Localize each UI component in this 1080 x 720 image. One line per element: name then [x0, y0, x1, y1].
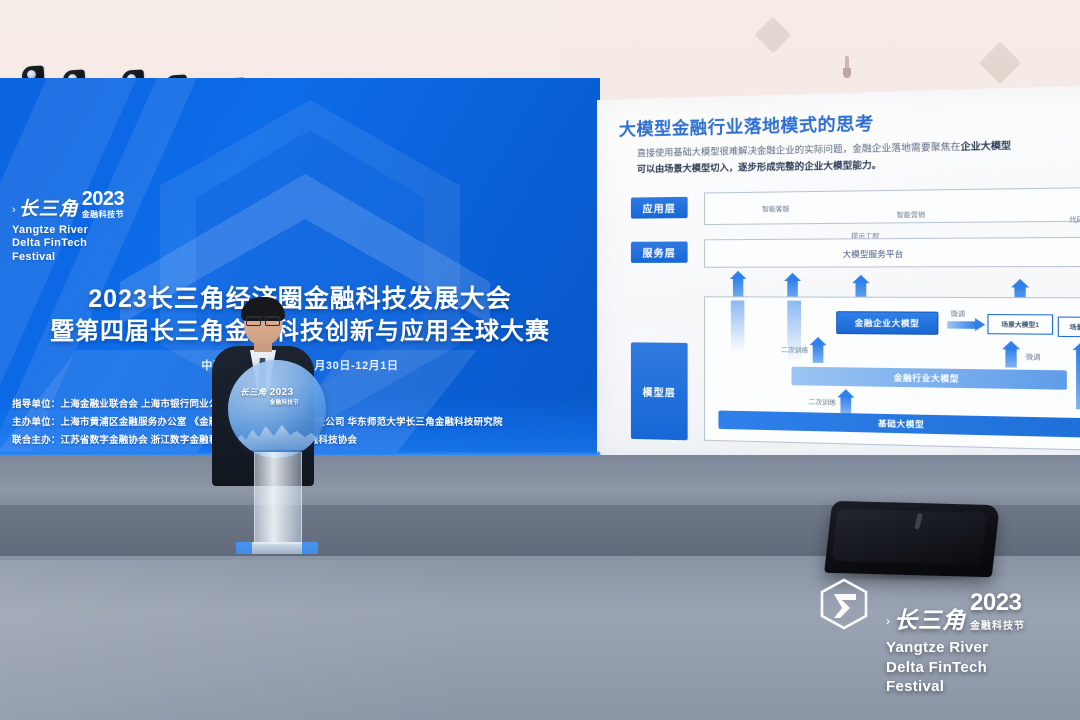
arrow-up-icon: [1076, 349, 1080, 410]
backdrop-brand-logo: › 长三角 2023 金融科技节 Yangtze River Delta Fin…: [12, 190, 162, 264]
slide-body-bold-tail: 企业大模型: [961, 140, 1011, 152]
monitor-grille: [831, 509, 987, 565]
scene-model-box: 场景大模型2: [1058, 317, 1080, 338]
watermark-en-line2: Delta FinTech: [886, 658, 1025, 678]
arrow-label: 微调: [951, 307, 965, 318]
podium-logo-cn: 长三角: [240, 386, 267, 398]
app-item-label: 智能客服: [762, 203, 789, 214]
slide-body-line2: 可以由场景大模型切入，逐步形成完整的企业大模型能力。: [637, 160, 882, 175]
presentation-screen: 大模型金融行业落地模式的思考 直接使用基础大模型很难解决金融企业的实际问题，金融…: [597, 85, 1080, 475]
podium-stem: [254, 452, 302, 544]
conference-photo: › 长三角 2023 金融科技节 Yangtze River Delta Fin…: [0, 0, 1080, 720]
watermark-arrow-icon: ›: [886, 614, 890, 628]
watermark-sub: 金融科技节: [970, 617, 1025, 632]
slide-diagram: 应用层 智能客服 智能营销 代码助手 提示工程 服务层 大模型服务平台 模型层 …: [631, 185, 1080, 456]
slide-body-text: 直接使用基础大模型很难解决金融企业的实际问题，金融企业落地需要聚焦在企业大模型 …: [637, 135, 1080, 178]
watermark-en-line3: Festival: [886, 677, 1025, 697]
layer-tag-service: 服务层: [631, 241, 688, 262]
watermark-cn: 长三角: [894, 609, 966, 632]
podium-base-accent: [302, 542, 318, 554]
watermark-logo: › 长三角 2023 金融科技节 Yangtze River Delta Fin…: [818, 578, 1068, 698]
scene-model-box: 场景大模型1: [987, 314, 1053, 335]
logo-arrow-icon: ›: [12, 205, 16, 216]
festival-mark-icon: [818, 578, 870, 630]
app-item-label: 智能营销: [897, 208, 925, 219]
arrow-up-icon: [840, 396, 851, 413]
logo-en-line2: Delta FinTech: [12, 237, 162, 250]
watermark-en-line1: Yangtze River: [886, 638, 1025, 658]
slide-title: 大模型金融行业落地模式的思考: [619, 109, 874, 141]
layer-tag-model: 模型层: [631, 342, 688, 440]
logo-year: 2023: [82, 188, 125, 210]
arrow-up-icon: [1005, 348, 1016, 367]
logo-en-line1: Yangtze River: [12, 224, 162, 237]
logo-chinese-name: 长三角: [19, 200, 79, 219]
glasses-icon: [246, 316, 280, 324]
arrow-label: 二次训练: [781, 344, 808, 355]
layer-tag-application: 应用层: [631, 197, 688, 219]
logo-subtitle-cn: 金融科技节: [82, 211, 125, 219]
arrow-label: 微调: [1026, 351, 1041, 362]
logo-en-line3: Festival: [12, 251, 162, 264]
podium-logo-year: 2023: [270, 387, 294, 398]
enterprise-model-box: 金融企业大模型: [836, 311, 938, 335]
podium-logo: 长三角 2023 金融科技节: [240, 386, 314, 406]
faint-arrow-up-icon: [731, 300, 744, 351]
watermark-year: 2023: [970, 589, 1021, 616]
podium-logo-sub: 金融科技节: [270, 398, 300, 406]
podium-base-accent: [236, 542, 252, 554]
arrow-right-icon: [947, 321, 976, 329]
app-item-label: 代码助手: [1069, 213, 1080, 224]
podium-disc-panel: 长三角 2023 金融科技节: [228, 360, 326, 458]
podium: 长三角 2023 金融科技节: [228, 360, 326, 560]
application-layer-box: [704, 187, 1080, 225]
service-platform-label: 大模型服务平台: [843, 249, 904, 261]
arrow-up-icon: [813, 344, 824, 363]
stage-monitor-speaker: [824, 501, 1000, 577]
slide-body-normal: 直接使用基础大模型很难解决金融企业的实际问题，金融企业落地需要聚焦在: [637, 141, 961, 158]
arrow-label: 二次训练: [808, 396, 836, 407]
